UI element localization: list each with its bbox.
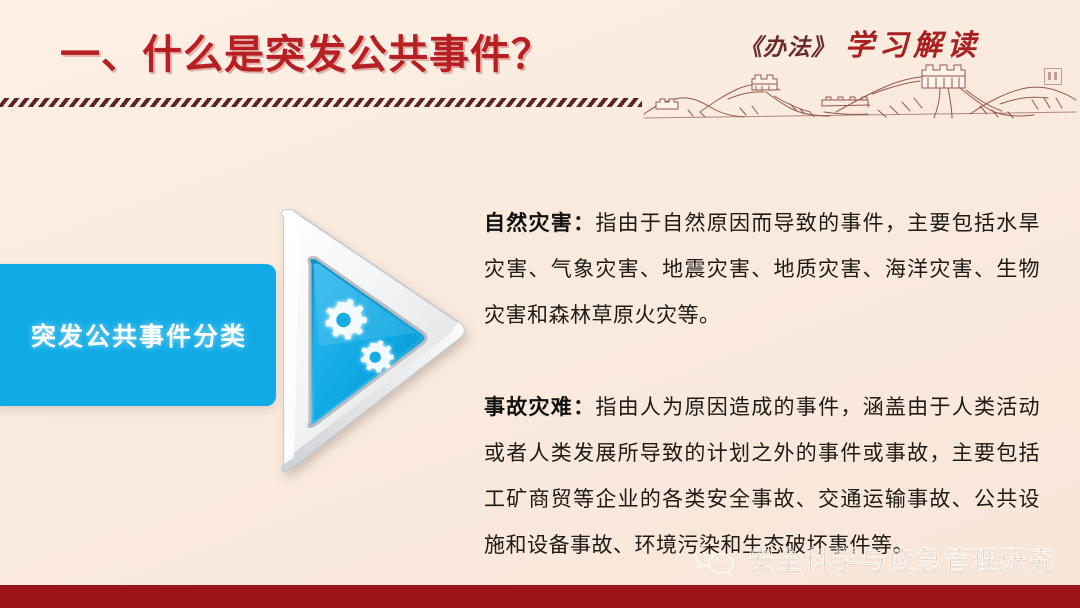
content-body: 自然灾害：指由于自然原因而导致的事件，主要包括水旱灾害、气象灾害、地震灾害、地质… bbox=[484, 180, 1040, 590]
calligraphy-block: 《办法》学习解读 bbox=[640, 22, 1080, 64]
paragraph-lead: 事故灾难： bbox=[484, 396, 595, 419]
watermark: 安全科学与应急管理研究 bbox=[694, 540, 1056, 577]
paragraph-text: 指由人为原因造成的事件，涵盖由于人类活动或者人类发展所导致的计划之外的事件或事故… bbox=[484, 396, 1040, 557]
calligraphy-main: 学习解读 bbox=[845, 30, 981, 62]
red-seal-stamp bbox=[1044, 68, 1062, 85]
header-art: 《办法》学习解读 bbox=[640, 4, 1080, 128]
category-banner[interactable]: 突发公共事件分类 bbox=[0, 264, 276, 406]
calligraphy-prefix: 《办法》 bbox=[739, 35, 835, 60]
hatched-divider bbox=[0, 98, 642, 107]
wechat-icon bbox=[694, 542, 736, 576]
slide-canvas: 一、什么是突发公共事件？ 《办法》学习解读 bbox=[0, 0, 1080, 608]
watermark-text: 安全科学与应急管理研究 bbox=[748, 540, 1056, 577]
paragraph-natural-disaster: 自然灾害：指由于自然原因而导致的事件，主要包括水旱灾害、气象灾害、地震灾害、地质… bbox=[484, 201, 1040, 339]
category-banner-label: 突发公共事件分类 bbox=[31, 317, 247, 353]
paragraph-lead: 自然灾害： bbox=[484, 212, 595, 235]
play-triangle-gears-icon bbox=[262, 196, 478, 486]
great-wall-line-art bbox=[640, 54, 1080, 128]
page-title: 一、什么是突发公共事件？ bbox=[60, 22, 552, 80]
bottom-bar bbox=[0, 585, 1080, 608]
